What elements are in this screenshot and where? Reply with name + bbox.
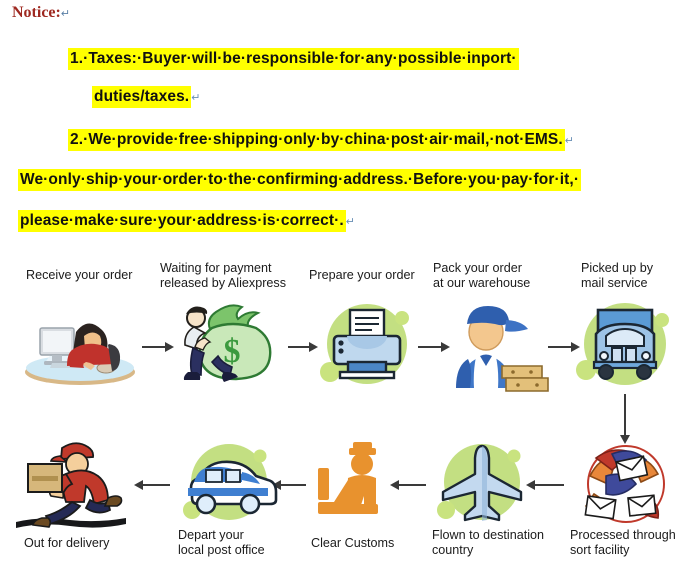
notice-line-3-text: 2.·We·provide·free·shipping·only·by·chin… bbox=[68, 129, 565, 151]
notice-title-text: Notice: bbox=[12, 4, 61, 21]
step-label-pack-your-order: Pack your order at our warehouse bbox=[433, 261, 563, 290]
sorting-envelopes-icon bbox=[570, 440, 682, 528]
person-at-computer-icon bbox=[14, 306, 144, 388]
step-label-waiting-for-payment: Waiting for payment released by Aliexpre… bbox=[160, 261, 310, 290]
step-label-flown-to-destination: Flown to destination country bbox=[432, 528, 572, 557]
shipping-process-flowchart: Receive your order Waiting for payment r… bbox=[0, 258, 685, 586]
notice-line-5-text: please·make·sure·your·address·is·correct… bbox=[18, 210, 346, 232]
flow-arrow-3-to-4 bbox=[418, 346, 442, 348]
paragraph-mark-icon: ↵ bbox=[191, 92, 200, 104]
step-label-picked-up-by-mail-service: Picked up by mail service bbox=[581, 261, 685, 290]
mail-truck-icon bbox=[570, 296, 680, 392]
money-bag-carrier-icon: $ bbox=[172, 300, 292, 392]
printer-icon bbox=[312, 298, 422, 392]
airplane-icon bbox=[432, 438, 532, 530]
notice-line-1-text: 1.·Taxes:·Buyer·will·be·responsible·for·… bbox=[68, 48, 519, 70]
step-label-clear-customs: Clear Customs bbox=[311, 536, 431, 551]
notice-title: Notice:↵ bbox=[12, 4, 70, 22]
paragraph-mark-icon: ↵ bbox=[346, 216, 355, 228]
step-label-out-for-delivery: Out for delivery bbox=[24, 536, 164, 551]
notice-line-2: duties/taxes.↵ bbox=[92, 88, 201, 106]
notice-line-3: 2.·We·provide·free·shipping·only·by·chin… bbox=[68, 131, 574, 149]
notice-line-2-text: duties/taxes. bbox=[92, 86, 191, 108]
flow-arrow-7-to-8 bbox=[398, 484, 426, 486]
step-label-depart-local-post-office: Depart your local post office bbox=[178, 528, 308, 557]
warehouse-worker-icon bbox=[440, 300, 552, 392]
customs-officer-icon bbox=[310, 440, 400, 528]
running-courier-icon bbox=[10, 438, 136, 534]
delivery-van-icon bbox=[176, 438, 282, 530]
notice-line-5: please·make·sure·your·address·is·correct… bbox=[18, 212, 355, 230]
flow-arrow-1-to-2 bbox=[142, 346, 166, 348]
step-label-receive-your-order: Receive your order bbox=[26, 268, 166, 283]
notice-line-1: 1.·Taxes:·Buyer·will·be·responsible·for·… bbox=[68, 50, 519, 68]
notice-section: Notice:↵ 1.·Taxes:·Buyer·will·be·respons… bbox=[0, 0, 685, 252]
flow-arrow-6-to-7 bbox=[534, 484, 564, 486]
flow-arrow-2-to-3 bbox=[288, 346, 310, 348]
flow-arrow-4-to-5 bbox=[548, 346, 572, 348]
step-label-prepare-your-order: Prepare your order bbox=[309, 268, 449, 283]
notice-line-4: We·only·ship·your·order·to·the·confirmin… bbox=[18, 171, 581, 189]
notice-line-4-text: We·only·ship·your·order·to·the·confirmin… bbox=[18, 169, 581, 191]
flow-arrow-5-to-6 bbox=[624, 394, 626, 436]
flow-arrow-9-to-10 bbox=[142, 484, 170, 486]
paragraph-mark-icon: ↵ bbox=[565, 135, 574, 147]
flow-arrow-8-to-9 bbox=[280, 484, 306, 486]
paragraph-mark-icon: ↵ bbox=[61, 8, 70, 20]
step-label-processed-through-sort-facility: Processed through sort facility bbox=[570, 528, 685, 557]
